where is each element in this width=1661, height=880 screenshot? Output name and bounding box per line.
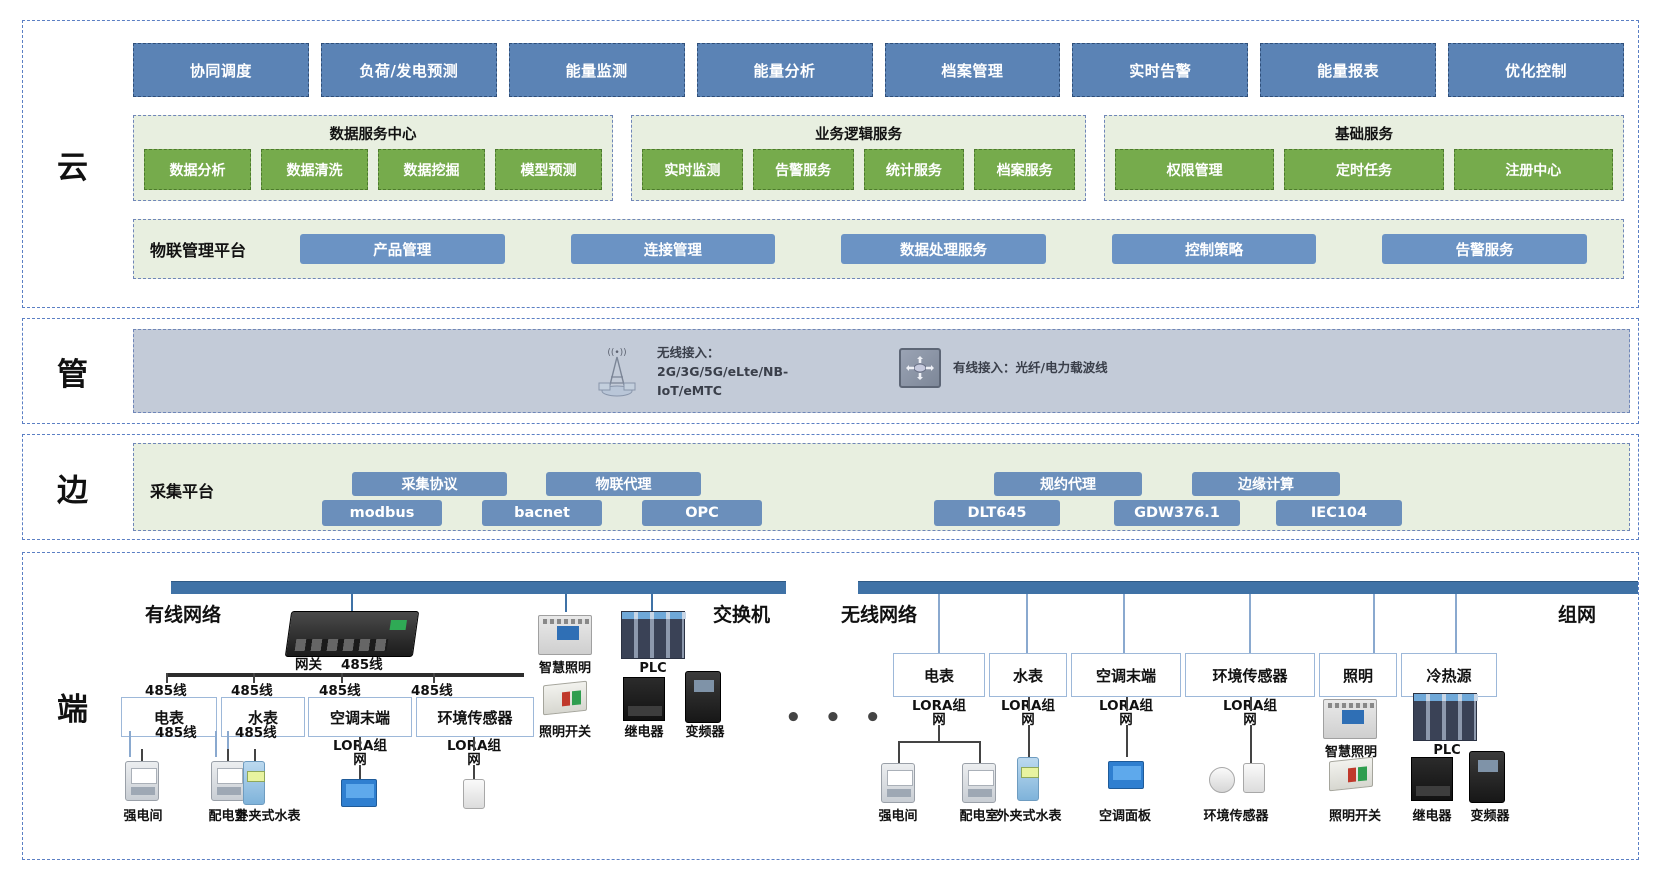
wireless-water-meter-icon xyxy=(1017,757,1039,801)
app-box-energy-report[interactable]: 能量报表 xyxy=(1260,43,1436,97)
gateway-link-label: 485线 xyxy=(341,653,383,673)
wireless-node-water-meter[interactable]: 水表 xyxy=(989,653,1067,697)
service-item-data-analysis[interactable]: 数据分析 xyxy=(144,149,251,190)
wired-side-label-smart-lighting: 智慧照明 xyxy=(527,657,603,676)
service-group-title: 数据服务中心 xyxy=(144,120,602,149)
wireless-lora-leg-1b xyxy=(979,741,981,763)
wireless-electric-meter-icon-1 xyxy=(881,763,915,803)
pipe-entry-wired: 有线接入：光纤/电力载波线 xyxy=(899,348,1108,388)
wireless-node-lighting[interactable]: 照明 xyxy=(1319,653,1397,697)
plc-icon xyxy=(621,611,685,659)
wireless-drop-6 xyxy=(1455,594,1457,656)
vfd-icon xyxy=(685,671,721,723)
pipe-panel: ((•)) 无线接入：2G/3G/5G/eLte/NB-IoT/eMTC xyxy=(133,329,1630,413)
ethernet-icon xyxy=(899,348,941,388)
wireless-lighting-switch-icon xyxy=(1329,757,1373,792)
wireless-caption-clamp-water-meter: 外夹式水表 xyxy=(991,805,1067,824)
iot-item-connection-mgmt[interactable]: 连接管理 xyxy=(571,234,776,264)
wireless-drop-4 xyxy=(1249,594,1251,656)
service-group-title: 基础服务 xyxy=(1115,120,1613,149)
wired-drop-plc xyxy=(651,594,653,612)
lighting-switch-icon xyxy=(543,681,587,716)
iot-item-product-mgmt[interactable]: 产品管理 xyxy=(300,234,505,264)
layer-label-edge: 边 xyxy=(23,465,123,510)
service-item-archive-service[interactable]: 档案服务 xyxy=(974,149,1075,190)
wireless-node-electric-meter[interactable]: 电表 xyxy=(893,653,985,697)
edge-chip-dlt645[interactable]: DLT645 xyxy=(934,500,1060,526)
edge-chip-bacnet[interactable]: bacnet xyxy=(482,500,602,526)
wired-node-link-1: 485线 xyxy=(155,721,197,741)
service-item-permission-mgmt[interactable]: 权限管理 xyxy=(1115,149,1274,190)
wireless-lora-stem-2 xyxy=(1028,725,1030,757)
edge-chip-iot-agent[interactable]: 物联代理 xyxy=(546,472,701,496)
wireless-network-title: 无线网络 xyxy=(841,600,917,627)
ellipsis-separator: • • • xyxy=(785,703,888,733)
wired-side-label-plc: PLC xyxy=(625,661,681,676)
wired-side-label-vfd: 变频器 xyxy=(675,721,735,740)
iot-platform-title: 物联管理平台 xyxy=(150,237,300,261)
wired-node-env-sensor[interactable]: 环境传感器 xyxy=(416,697,534,737)
wired-side-label-lighting-switch: 照明开关 xyxy=(525,721,605,740)
wireless-env-sensor-icon xyxy=(1243,763,1265,793)
wireless-relay-icon xyxy=(1411,757,1453,801)
wireless-drop-5 xyxy=(1373,594,1375,656)
smart-lighting-icon xyxy=(538,615,592,655)
layer-edge: 边 采集平台 采集协议 物联代理 规约代理 边缘计算 modbus bacnet… xyxy=(22,434,1639,540)
pipe-text-wireless: 无线接入：2G/3G/5G/eLte/NB-IoT/eMTC xyxy=(657,344,827,400)
service-group-data-center: 数据服务中心 数据分析 数据清洗 数据挖掘 模型预测 xyxy=(133,115,613,201)
edge-panel: 采集平台 采集协议 物联代理 规约代理 边缘计算 modbus bacnet O… xyxy=(133,443,1630,531)
wireless-caption-lighting-switch: 照明开关 xyxy=(1315,805,1395,824)
wired-network-title: 有线网络 xyxy=(145,600,221,627)
wireless-lora-stem-1 xyxy=(938,725,940,741)
wireless-drop-3 xyxy=(1123,594,1125,656)
iot-platform-row: 物联管理平台 产品管理 连接管理 数据处理服务 控制策略 告警服务 xyxy=(133,219,1624,279)
electric-meter-icon-1 xyxy=(125,761,159,801)
wired-branch-4 xyxy=(473,737,475,751)
layer-label-pipe: 管 xyxy=(23,349,123,394)
edge-chip-protocol-agent[interactable]: 规约代理 xyxy=(994,472,1142,496)
wired-link-label-3: 485线 xyxy=(319,679,361,699)
service-item-alarm-service[interactable]: 告警服务 xyxy=(753,149,854,190)
wired-node-link-2: 485线 xyxy=(235,721,277,741)
layer-body-device: 有线网络 交换机 网关 485线 485线 485线 485线 485线 电表 … xyxy=(123,553,1638,859)
wireless-node-hvac-terminal[interactable]: 空调末端 xyxy=(1071,653,1181,697)
wired-drop-lighting xyxy=(565,594,567,612)
service-item-registry-center[interactable]: 注册中心 xyxy=(1454,149,1613,190)
edge-chip-iec104[interactable]: IEC104 xyxy=(1276,500,1402,526)
layer-label-device: 端 xyxy=(23,684,123,729)
app-box-xietiao[interactable]: 协同调度 xyxy=(133,43,309,97)
wireless-caption-env-sensor: 环境传感器 xyxy=(1189,805,1283,824)
hvac-panel-icon xyxy=(341,779,377,807)
layer-body-pipe: ((•)) 无线接入：2G/3G/5G/eLte/NB-IoT/eMTC xyxy=(123,319,1638,423)
wireless-caption-strong-power-room: 强电间 xyxy=(877,805,919,824)
relay-icon xyxy=(623,677,665,721)
wireless-network-label: 组网 xyxy=(1558,600,1596,627)
layer-device: 端 有线网络 交换机 网关 485线 485线 485线 485线 485线 电… xyxy=(22,552,1639,860)
wireless-lora-stem-3 xyxy=(1126,725,1128,757)
app-box-realtime-alarm[interactable]: 实时告警 xyxy=(1072,43,1248,97)
edge-chip-modbus[interactable]: modbus xyxy=(322,500,442,526)
edge-chip-collect-protocol[interactable]: 采集协议 xyxy=(352,472,507,496)
service-item-statistics-service[interactable]: 统计服务 xyxy=(864,149,965,190)
wireless-lora-leg-1a xyxy=(898,741,900,763)
wireless-side-label-plc: PLC xyxy=(1419,743,1475,758)
wireless-lora-stem-4 xyxy=(1250,725,1252,763)
layer-body-edge: 采集平台 采集协议 物联代理 规约代理 边缘计算 modbus bacnet O… xyxy=(123,435,1638,539)
wireless-backbone-bus xyxy=(858,581,1638,594)
wired-branch-3 xyxy=(359,737,361,751)
service-item-data-cleaning[interactable]: 数据清洗 xyxy=(261,149,368,190)
edge-chip-gdw376[interactable]: GDW376.1 xyxy=(1114,500,1240,526)
app-box-archive-mgmt[interactable]: 档案管理 xyxy=(885,43,1061,97)
wireless-caption-hvac-panel: 空调面板 xyxy=(1089,805,1161,824)
edge-chip-opc[interactable]: OPC xyxy=(642,500,762,526)
service-group-business-logic: 业务逻辑服务 实时监测 告警服务 统计服务 档案服务 xyxy=(631,115,1086,201)
pipe-entry-wireless: ((•)) 无线接入：2G/3G/5G/eLte/NB-IoT/eMTC xyxy=(589,344,827,400)
wireless-plc-icon xyxy=(1413,693,1477,741)
svg-text:((•)): ((•)) xyxy=(607,348,626,358)
wired-water-stub xyxy=(254,749,256,761)
wireless-hvac-panel-icon xyxy=(1108,761,1144,789)
edge-chip-edge-computing[interactable]: 边缘计算 xyxy=(1192,472,1340,496)
wireless-side-label-smart-lighting: 智慧照明 xyxy=(1311,741,1391,760)
iot-item-data-processing[interactable]: 数据处理服务 xyxy=(841,234,1046,264)
wireless-branch-3 xyxy=(1126,697,1128,711)
layer-pipe: 管 ((•)) 无线接入：2G/3G/5G/eLte/NB-IoT/eMTC xyxy=(22,318,1639,424)
wired-link-label-1: 485线 xyxy=(145,679,187,699)
wireless-electric-meter-icon-2 xyxy=(962,763,996,803)
wired-backbone-bus xyxy=(171,581,786,594)
service-item-realtime-monitor[interactable]: 实时监测 xyxy=(642,149,743,190)
wired-caption-clamp-water-meter: 外夹式水表 xyxy=(231,805,305,824)
cell-tower-icon: ((•)) xyxy=(589,345,645,399)
pipe-text-wired: 有线接入：光纤/电力载波线 xyxy=(953,359,1108,378)
wireless-node-cooling-heating[interactable]: 冷热源 xyxy=(1401,653,1497,697)
wireless-branch-2 xyxy=(1028,697,1030,711)
app-box-energy-analysis[interactable]: 能量分析 xyxy=(697,43,873,97)
app-box-optimize-control[interactable]: 优化控制 xyxy=(1448,43,1624,97)
wireless-vfd-icon xyxy=(1469,751,1505,803)
wired-link-label-2: 485线 xyxy=(231,679,273,699)
electric-meter-icon-2 xyxy=(211,761,245,801)
wireless-caption-vfd: 变频器 xyxy=(1459,805,1521,824)
layer-body-cloud: 协同调度 负荷/发电预测 能量监测 能量分析 档案管理 实时告警 能量报表 优化… xyxy=(123,21,1638,307)
iot-item-alarm-service[interactable]: 告警服务 xyxy=(1382,234,1587,264)
wired-485-bus xyxy=(166,673,524,677)
app-box-fuhe-forecast[interactable]: 负荷/发电预测 xyxy=(321,43,497,97)
env-sensor-icon xyxy=(463,779,485,809)
wireless-lora-split-1 xyxy=(898,741,980,743)
app-box-energy-monitor[interactable]: 能量监测 xyxy=(509,43,685,97)
edge-platform-title: 采集平台 xyxy=(150,478,214,502)
cloud-application-row: 协同调度 负荷/发电预测 能量监测 能量分析 档案管理 实时告警 能量报表 优化… xyxy=(133,43,1624,97)
wired-node-hvac-terminal[interactable]: 空调末端 xyxy=(308,697,412,737)
wired-branch-1a xyxy=(129,731,131,757)
service-group-title: 业务逻辑服务 xyxy=(642,120,1075,149)
iot-item-control-strategy[interactable]: 控制策略 xyxy=(1112,234,1317,264)
switch-label: 交换机 xyxy=(713,600,770,627)
wireless-node-env-sensor[interactable]: 环境传感器 xyxy=(1185,653,1315,697)
service-item-scheduled-task[interactable]: 定时任务 xyxy=(1284,149,1443,190)
wireless-branch-4 xyxy=(1250,697,1252,711)
wireless-drop-2 xyxy=(1026,594,1028,656)
wired-branch-1b xyxy=(215,731,217,757)
wired-caption-strong-power-room: 强电间 xyxy=(123,805,163,824)
wireless-node-link-1: LORA组网 xyxy=(910,699,968,727)
wireless-caption-relay: 继电器 xyxy=(1401,805,1463,824)
service-item-model-forecast[interactable]: 模型预测 xyxy=(495,149,602,190)
wireless-drop-1 xyxy=(938,594,940,656)
service-group-basic: 基础服务 权限管理 定时任务 注册中心 xyxy=(1104,115,1624,201)
layer-label-cloud: 云 xyxy=(23,142,123,187)
gateway-label: 网关 xyxy=(295,653,322,673)
gateway-device-icon xyxy=(285,611,419,657)
water-meter-icon xyxy=(243,761,265,805)
layer-cloud: 云 协同调度 负荷/发电预测 能量监测 能量分析 档案管理 实时告警 能量报表 … xyxy=(22,20,1639,308)
service-item-data-mining[interactable]: 数据挖掘 xyxy=(378,149,485,190)
wired-side-label-relay: 继电器 xyxy=(613,721,675,740)
cloud-service-row: 数据服务中心 数据分析 数据清洗 数据挖掘 模型预测 业务逻辑服务 实时监测 告… xyxy=(133,115,1624,201)
wired-link-label-4: 485线 xyxy=(411,679,453,699)
wireless-smoke-sensor-icon xyxy=(1209,767,1235,793)
wireless-smart-lighting-icon xyxy=(1323,699,1377,739)
